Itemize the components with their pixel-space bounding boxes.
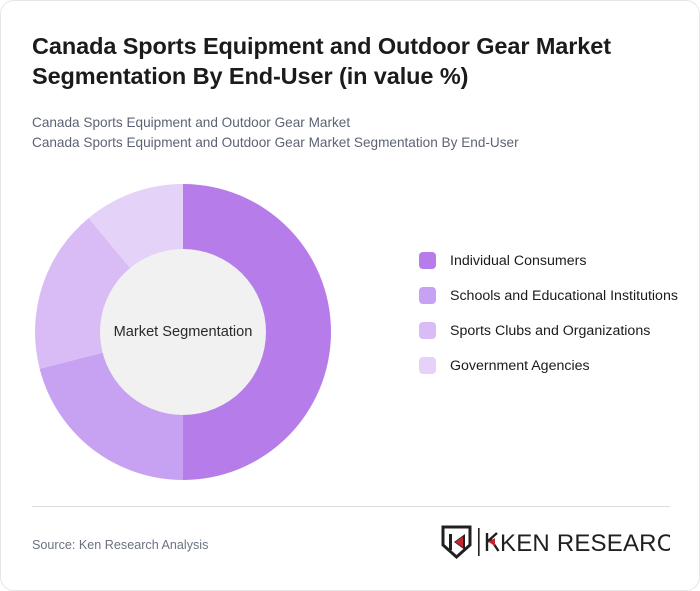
- logo-separator: [478, 528, 480, 556]
- legend-item-label: Government Agencies: [450, 356, 590, 377]
- legend-swatch-icon: [419, 322, 436, 339]
- logo-wordmark: KEN RESEARCH: [500, 530, 670, 557]
- source-note: Source: Ken Research Analysis: [32, 538, 208, 552]
- legend-item-label: Individual Consumers: [450, 251, 586, 272]
- legend-item-label: Schools and Educational Institutions: [450, 286, 678, 307]
- ken-research-logo[interactable]: KEN RESEARCH: [440, 525, 670, 559]
- legend-item[interactable]: Individual Consumers: [419, 251, 687, 272]
- legend-item-label: Sports Clubs and Organizations: [450, 321, 650, 342]
- chart-area: Market Segmentation Individual Consumers…: [1, 171, 700, 501]
- legend-swatch-icon: [419, 252, 436, 269]
- legend-item[interactable]: Government Agencies: [419, 356, 687, 377]
- chart-card: Canada Sports Equipment and Outdoor Gear…: [0, 0, 700, 591]
- page-title: Canada Sports Equipment and Outdoor Gear…: [32, 31, 657, 91]
- legend-item[interactable]: Schools and Educational Institutions: [419, 286, 687, 307]
- donut-inner-circle: [100, 249, 266, 415]
- legend-swatch-icon: [419, 287, 436, 304]
- subtitle-line-1: Canada Sports Equipment and Outdoor Gear…: [32, 113, 657, 133]
- footer-divider: [32, 506, 670, 507]
- donut-chart[interactable]: Market Segmentation: [33, 182, 333, 482]
- legend-item[interactable]: Sports Clubs and Organizations: [419, 321, 687, 342]
- ken-research-logo-svg: KEN RESEARCH: [440, 525, 670, 559]
- chart-legend: Individual ConsumersSchools and Educatio…: [419, 251, 687, 391]
- donut-chart-svg: [33, 182, 333, 482]
- subtitle-line-2: Canada Sports Equipment and Outdoor Gear…: [32, 133, 657, 153]
- chart-subtitles: Canada Sports Equipment and Outdoor Gear…: [32, 113, 657, 153]
- ken-research-shield-icon: [443, 527, 470, 557]
- legend-swatch-icon: [419, 357, 436, 374]
